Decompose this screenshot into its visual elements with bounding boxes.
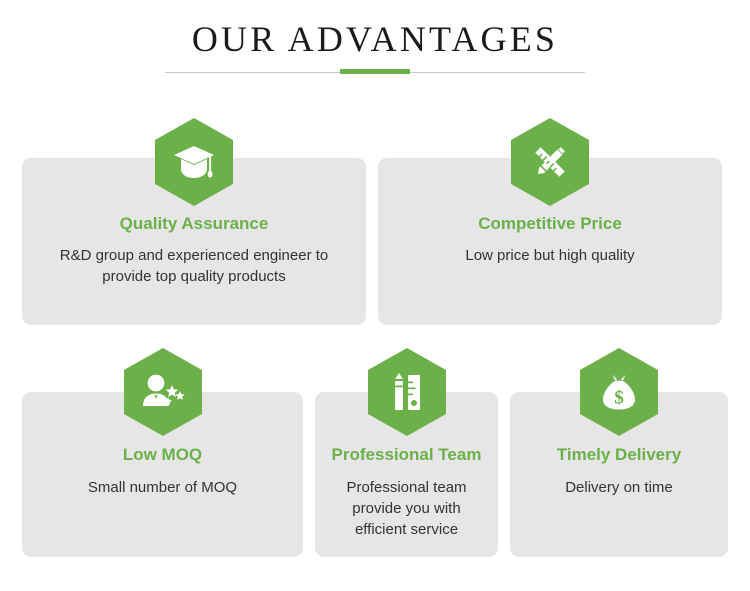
svg-text:$: $: [614, 388, 624, 409]
badge-timely-delivery: $: [580, 348, 658, 436]
card-title: Quality Assurance: [120, 213, 269, 234]
card-title: Timely Delivery: [557, 444, 681, 465]
badge-low-moq: [124, 348, 202, 436]
badge-quality-assurance: [155, 118, 233, 206]
advantage-card-professional-team[interactable]: Professional Team Professional team prov…: [315, 392, 498, 557]
page-header: OUR ADVANTAGES: [0, 0, 750, 100]
advantages-page: OUR ADVANTAGES Quality Assur: [0, 0, 750, 591]
card-title: Professional Team: [332, 444, 482, 465]
graduation-cap-icon: [172, 140, 216, 184]
card-description: R&D group and experienced engineer to pr…: [39, 245, 349, 287]
advantage-card-timely-delivery[interactable]: $ Timely Delivery Delivery on time: [510, 392, 728, 557]
advantage-card-quality-assurance[interactable]: Quality Assurance R&D group and experien…: [22, 158, 366, 325]
card-description: Low price but high quality: [465, 245, 634, 266]
card-description: Delivery on time: [565, 477, 673, 498]
advantages-row-2: Low MOQ Small number of MOQ: [22, 392, 728, 557]
pencil-ruler-cross-icon: [528, 140, 572, 184]
card-title: Competitive Price: [478, 213, 622, 234]
card-description: Professional team provide you with effic…: [332, 477, 482, 540]
title-divider-accent: [340, 69, 410, 74]
card-description: Small number of MOQ: [88, 477, 237, 498]
badge-professional-team: [368, 348, 446, 436]
badge-competitive-price: [511, 118, 589, 206]
advantage-card-low-moq[interactable]: Low MOQ Small number of MOQ: [22, 392, 303, 557]
advantages-row-1: Quality Assurance R&D group and experien…: [22, 158, 728, 325]
money-bag-icon: $: [597, 370, 641, 414]
user-stars-icon: [141, 370, 185, 414]
advantage-card-competitive-price[interactable]: Competitive Price Low price but high qua…: [378, 158, 722, 325]
pencil-ruler-icon: [385, 370, 429, 414]
card-title: Low MOQ: [123, 444, 202, 465]
page-title: OUR ADVANTAGES: [0, 16, 750, 62]
